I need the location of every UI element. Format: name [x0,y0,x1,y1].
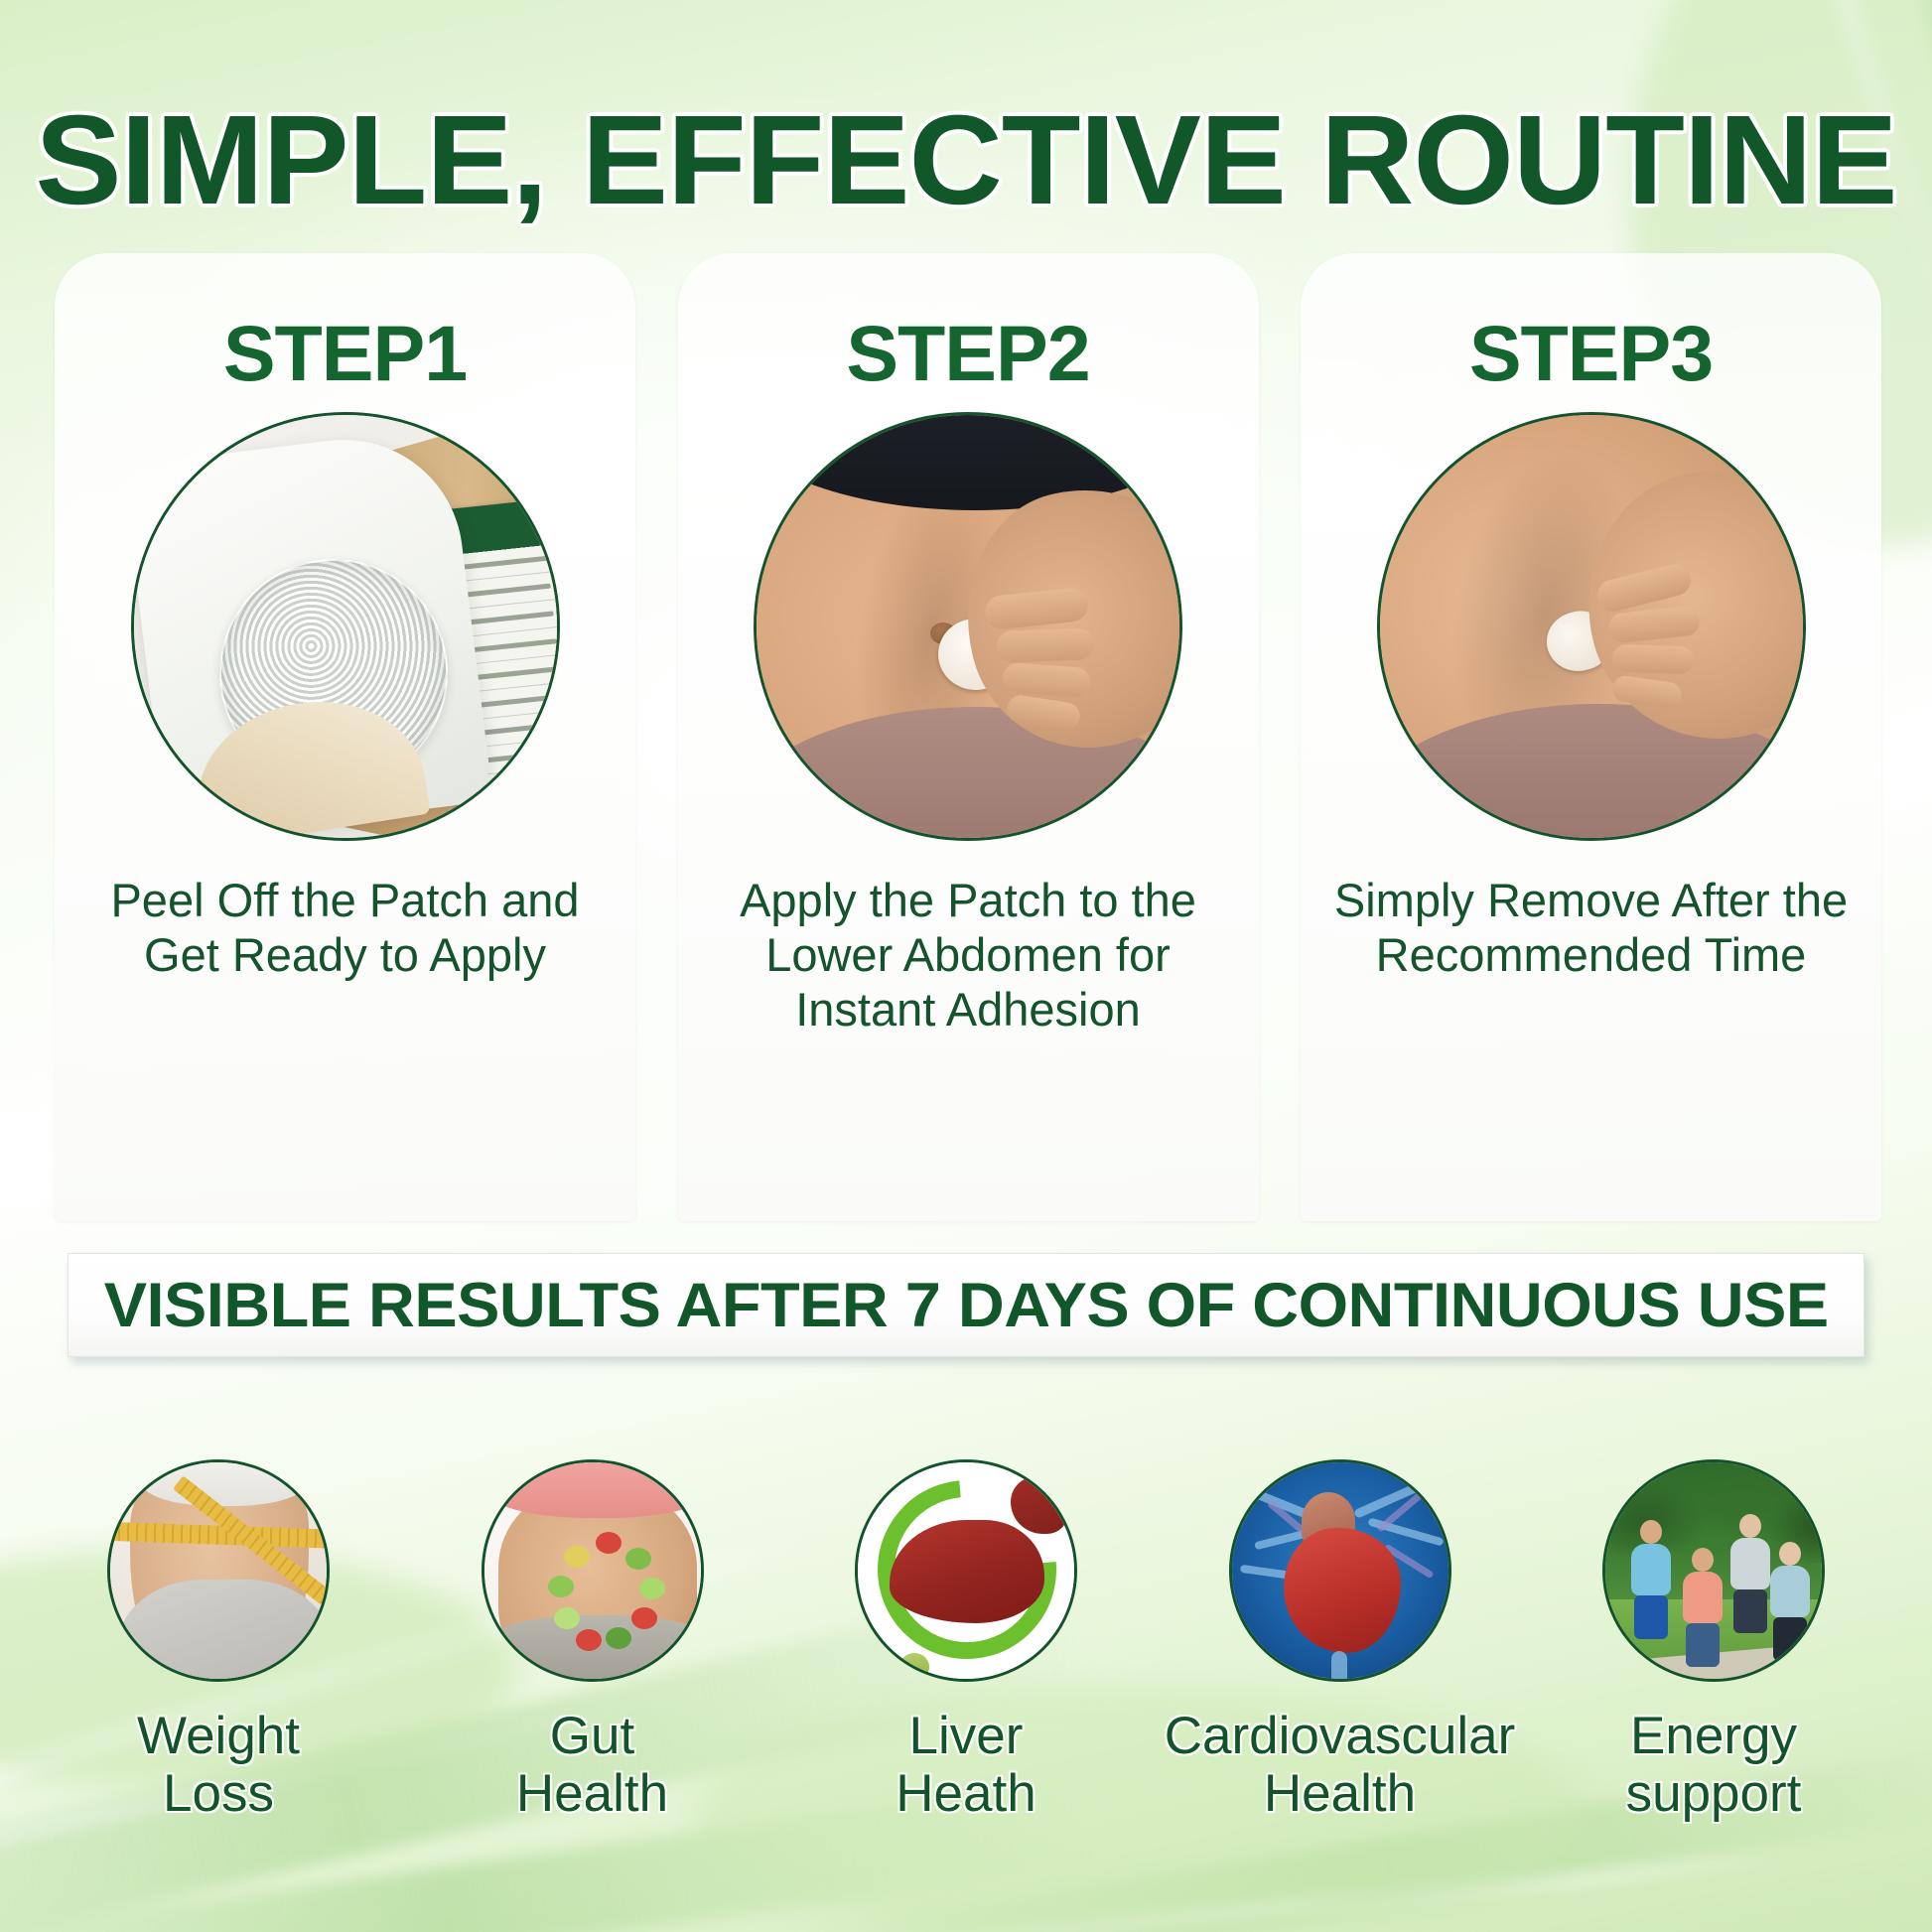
benefits-row: Weight Loss Gut Health Liver Hea [60,1459,1872,1886]
step-label-1: STEP1 [55,308,635,399]
step-caption-2: Apply the Patch to the Lower Abdomen for… [696,874,1241,1037]
benefit-label: Weight Loss [137,1708,300,1824]
patch-peel-photo [131,412,560,841]
benefit-liver-health[interactable]: Liver Heath [807,1459,1125,1824]
benefit-label: Gut Health [516,1708,668,1824]
step-card-1[interactable]: STEP1 [55,253,635,1221]
step-label-2: STEP2 [678,308,1259,399]
benefit-weight-loss[interactable]: Weight Loss [60,1459,377,1824]
liver-organ-icon [855,1459,1077,1682]
patch-remove-photo [1377,412,1806,841]
step-card-3[interactable]: STEP3 Simply Remove After the Recommende… [1301,253,1881,1221]
gut-vegetables-icon [482,1459,704,1682]
results-banner-text: VISIBLE RESULTS AFTER 7 DAYS OF CONTINUO… [104,1270,1829,1341]
benefit-label: Cardiovascular Health [1165,1708,1515,1824]
patch-apply-abdomen-photo [754,412,1182,841]
results-banner: VISIBLE RESULTS AFTER 7 DAYS OF CONTINUO… [68,1253,1864,1357]
step-caption-3: Simply Remove After the Recommended Time [1318,874,1863,983]
page-title: SIMPLE, EFFECTIVE ROUTINE [0,87,1932,233]
benefit-gut-health[interactable]: Gut Health [434,1459,752,1824]
waist-measure-icon [107,1459,330,1682]
steps-row: STEP1 [55,253,1881,1226]
heart-vessels-icon [1229,1459,1451,1682]
step-caption-1: Peel Off the Patch and Get Ready to Appl… [72,874,618,983]
step-label-3: STEP3 [1301,308,1881,399]
benefit-label: Energy support [1626,1708,1802,1824]
benefit-label: Liver Heath [896,1708,1035,1824]
benefit-cardiovascular-health[interactable]: Cardiovascular Health [1181,1459,1499,1824]
people-jogging-icon [1602,1459,1825,1682]
step-card-2[interactable]: STEP2 Apply the Patch to the Lower Abdom… [678,253,1259,1221]
benefit-energy-support[interactable]: Energy support [1555,1459,1872,1824]
